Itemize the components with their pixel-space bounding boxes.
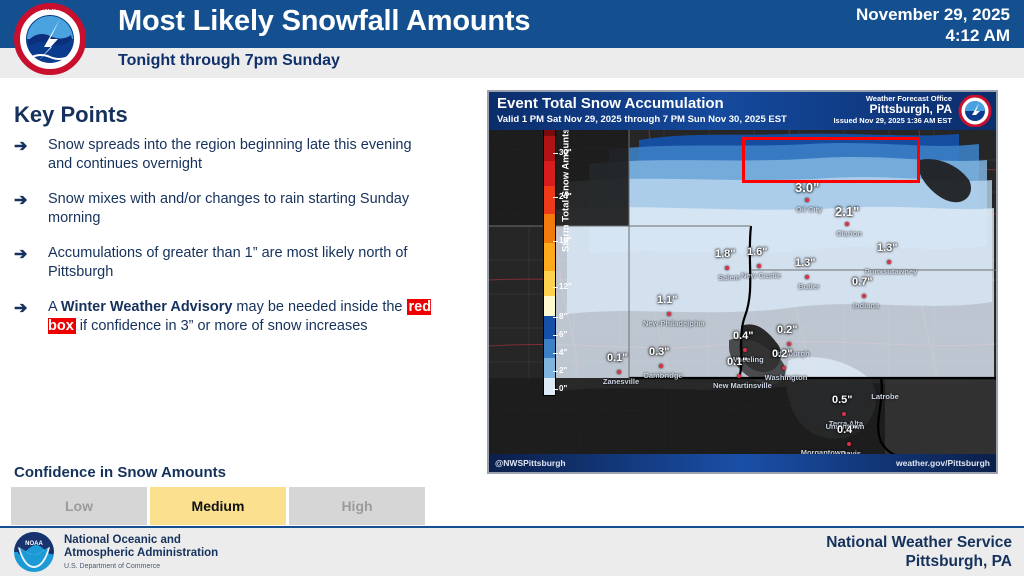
city-marker-dot bbox=[842, 412, 846, 416]
snow-amount-label: 1.1" bbox=[657, 294, 678, 306]
map-colorbar: Storm Total Snow Amounts (in) 36" 30" 24… bbox=[515, 106, 575, 406]
page-title: Most Likely Snowfall Amounts bbox=[118, 5, 530, 38]
city-name-label: Cambridge bbox=[635, 371, 691, 380]
city-marker-dot bbox=[805, 275, 809, 279]
colorbar-tick: 8" bbox=[559, 312, 567, 321]
header-time: 4:12 AM bbox=[856, 25, 1010, 46]
key-points-list: ➔ Snow spreads into the region beginning… bbox=[14, 136, 434, 352]
map-website: weather.gov/Pittsburgh bbox=[896, 458, 990, 468]
snow-amount-label: 0.2" bbox=[777, 324, 798, 336]
snow-amount-label: 0.1" bbox=[727, 356, 748, 368]
confidence-level-low[interactable]: Low bbox=[11, 487, 147, 525]
snow-amount-label: 0.5" bbox=[832, 394, 853, 406]
colorbar-tick: 0" bbox=[559, 384, 567, 393]
advisory-red-box bbox=[742, 137, 920, 183]
city-name-label: Oil City bbox=[781, 205, 837, 214]
svg-text:NOAA: NOAA bbox=[25, 541, 43, 547]
list-item: ➔ Snow mixes with and/or changes to rain… bbox=[14, 190, 434, 228]
city-marker-dot bbox=[757, 264, 761, 268]
svg-text:NATIONAL: NATIONAL bbox=[35, 6, 66, 12]
colorbar-tick: 12" bbox=[559, 282, 572, 291]
bullet-text-run: A bbox=[48, 299, 61, 315]
arrow-right-icon: ➔ bbox=[14, 298, 48, 336]
noaa-line-2: Atmospheric Administration bbox=[64, 547, 218, 560]
city-name-label: Punxsutawney bbox=[863, 267, 919, 276]
city-marker-dot bbox=[743, 348, 747, 352]
city-marker-dot bbox=[782, 366, 786, 370]
map-wfo-block: Weather Forecast Office Pittsburgh, PA I… bbox=[833, 94, 952, 125]
bullet-text-run: may be needed inside the bbox=[232, 299, 406, 315]
snow-amount-label: 1.3" bbox=[877, 242, 898, 254]
city-name-label: New Philadelphia bbox=[643, 319, 699, 328]
page-subtitle: Tonight through 7pm Sunday bbox=[118, 52, 340, 70]
colorbar-tick: 2" bbox=[559, 366, 567, 375]
confidence-heading: Confidence in Snow Amounts bbox=[14, 464, 226, 481]
snow-amount-label: 1.3" bbox=[795, 257, 816, 269]
arrow-right-icon: ➔ bbox=[14, 244, 48, 282]
city-marker-dot bbox=[737, 374, 741, 378]
city-marker-dot bbox=[659, 364, 663, 368]
colorbar-tick: 24" bbox=[559, 192, 572, 201]
city-marker-dot bbox=[887, 260, 891, 264]
city-marker-dot bbox=[617, 370, 621, 374]
arrow-right-icon: ➔ bbox=[14, 136, 48, 174]
noaa-seal-icon: NOAA bbox=[12, 531, 56, 573]
list-item-text: Snow spreads into the region beginning l… bbox=[48, 136, 434, 174]
list-item-advisory: ➔ A Winter Weather Advisory may be neede… bbox=[14, 298, 434, 336]
city-marker-dot bbox=[667, 312, 671, 316]
confidence-scale: Low Medium High bbox=[11, 487, 425, 525]
list-item: ➔ Accumulations of greater than 1” are m… bbox=[14, 244, 434, 282]
noaa-wordmark: National Oceanic and Atmospheric Adminis… bbox=[64, 534, 218, 570]
advisory-term: Winter Weather Advisory bbox=[61, 299, 233, 315]
list-item-text: Snow mixes with and/or changes to rain s… bbox=[48, 190, 434, 228]
snow-amount-label: 0.4" bbox=[837, 424, 858, 436]
list-item-text-rich: A Winter Weather Advisory may be needed … bbox=[48, 298, 434, 336]
city-marker-dot bbox=[787, 342, 791, 346]
key-points-heading: Key Points bbox=[14, 102, 128, 128]
snow-amount-label: 1.6" bbox=[747, 246, 768, 258]
snow-amount-label: 0.4" bbox=[733, 330, 754, 342]
colorbar-tick: 4" bbox=[559, 348, 567, 357]
bullet-text-run: if confidence in 3” or more of snow incr… bbox=[76, 318, 368, 334]
city-name-label: Indiana bbox=[838, 301, 894, 310]
arrow-right-icon: ➔ bbox=[14, 190, 48, 228]
colorbar-tick: 18" bbox=[559, 236, 572, 245]
confidence-level-medium[interactable]: Medium bbox=[150, 487, 286, 525]
city-marker-dot bbox=[725, 266, 729, 270]
header-date: November 29, 2025 bbox=[856, 4, 1010, 25]
snow-amount-label: 2.1" bbox=[835, 204, 859, 219]
slide-root: NATIONAL Most Likely Snowfall Amounts To… bbox=[0, 0, 1024, 576]
list-item-text: Accumulations of greater than 1” are mos… bbox=[48, 244, 434, 282]
footer-office: National Weather Service Pittsburgh, PA bbox=[826, 533, 1012, 571]
national-weather-service-seal-icon: NATIONAL bbox=[8, 3, 92, 75]
map-footer-bar: @NWSPittsburgh weather.gov/Pittsburgh bbox=[489, 454, 996, 472]
list-item: ➔ Snow spreads into the region beginning… bbox=[14, 136, 434, 174]
noaa-line-1: National Oceanic and bbox=[64, 534, 218, 547]
city-marker-dot bbox=[805, 198, 809, 202]
map-social-handle: @NWSPittsburgh bbox=[495, 458, 566, 468]
header-timestamp: November 29, 2025 4:12 AM bbox=[856, 4, 1010, 46]
nws-seal-icon bbox=[958, 95, 992, 127]
snow-amount-label: 1.8" bbox=[715, 248, 736, 260]
noaa-line-3: U.S. Department of Commerce bbox=[64, 563, 218, 570]
snow-amount-label: 0.2" bbox=[772, 348, 793, 360]
city-name-label: Butler bbox=[781, 282, 837, 291]
city-name-label: New Martinsville bbox=[713, 381, 769, 390]
colorbar-tick: 30" bbox=[559, 148, 572, 157]
map-title: Event Total Snow Accumulation bbox=[497, 95, 724, 112]
colorbar-tick: 6" bbox=[559, 330, 567, 339]
map-valid-time: Valid 1 PM Sat Nov 29, 2025 through 7 PM… bbox=[497, 114, 787, 125]
snow-amount-label: 0.7" bbox=[852, 276, 873, 288]
city-name-label: Clarion bbox=[821, 229, 877, 238]
confidence-level-high[interactable]: High bbox=[289, 487, 425, 525]
map-header-bar: Event Total Snow Accumulation Valid 1 PM… bbox=[489, 92, 996, 130]
snow-accumulation-map[interactable]: Storm Total Snow Amounts (in) 36" 30" 24… bbox=[487, 90, 998, 474]
map-wfo-office: Pittsburgh, PA bbox=[833, 103, 952, 116]
city-marker-dot bbox=[845, 222, 849, 226]
snow-amount-label: 0.1" bbox=[607, 352, 628, 364]
city-marker-dot bbox=[862, 294, 866, 298]
city-name-label: Salem bbox=[701, 273, 757, 282]
footer-office-line-1: National Weather Service bbox=[826, 533, 1012, 552]
map-issued-time: Issued Nov 29, 2025 1:36 AM EST bbox=[833, 116, 952, 125]
snow-amount-label: 0.3" bbox=[649, 346, 670, 358]
footer-office-line-2: Pittsburgh, PA bbox=[826, 552, 1012, 571]
city-name-label: Latrobe bbox=[855, 392, 915, 401]
city-marker-dot bbox=[847, 442, 851, 446]
